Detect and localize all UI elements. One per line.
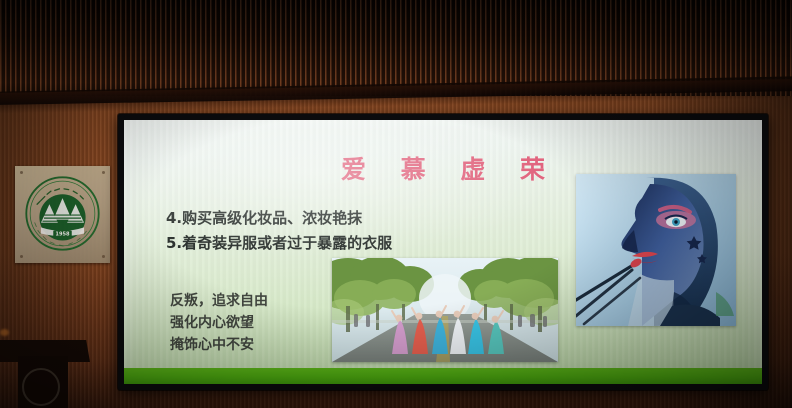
university-emblem-plaque: 1958 [15, 166, 110, 263]
plaque-screw [20, 171, 23, 174]
slide-subtext-item: 强化内心欲望 [170, 312, 268, 334]
slide-bullet-item: 4.购买高级化妆品、浓妆艳抹 [166, 206, 596, 231]
auditorium-scene: 1958 爱 慕 虚 荣 4.购买高级化妆品、浓妆艳抹 5.着奇装异服或者过于暴… [0, 0, 792, 408]
university-crest-icon: 1958 [24, 174, 101, 253]
slide-subtext-item: 反叛，追求自由 [170, 290, 268, 312]
projection-screen: 爱 慕 虚 荣 4.购买高级化妆品、浓妆艳抹 5.着奇装异服或者过于暴露的衣服 … [118, 114, 768, 390]
slide-bullet-item: 5.着奇装异服或者过于暴露的衣服 [166, 231, 596, 256]
lectern [0, 328, 90, 408]
lectern-emblem-icon [22, 368, 60, 406]
plaque-screw [102, 171, 105, 174]
plaque-screw [102, 255, 105, 258]
plaque-screw [20, 255, 23, 258]
photo-blue-toned-makeup-portrait [576, 174, 736, 326]
emblem-year: 1958 [55, 232, 70, 238]
photo-women-in-hanfu-on-tree-lined-road [332, 258, 558, 362]
slide-accent-bar [124, 368, 762, 384]
slide-bullet-list: 4.购买高级化妆品、浓妆艳抹 5.着奇装异服或者过于暴露的衣服 [166, 206, 596, 256]
slide-subtext-list: 反叛，追求自由 强化内心欲望 掩饰心中不安 [170, 290, 268, 356]
podium-lamp-glow [0, 329, 9, 336]
slide-subtext-item: 掩饰心中不安 [170, 334, 268, 356]
presentation-slide: 爱 慕 虚 荣 4.购买高级化妆品、浓妆艳抹 5.着奇装异服或者过于暴露的衣服 … [124, 120, 762, 384]
